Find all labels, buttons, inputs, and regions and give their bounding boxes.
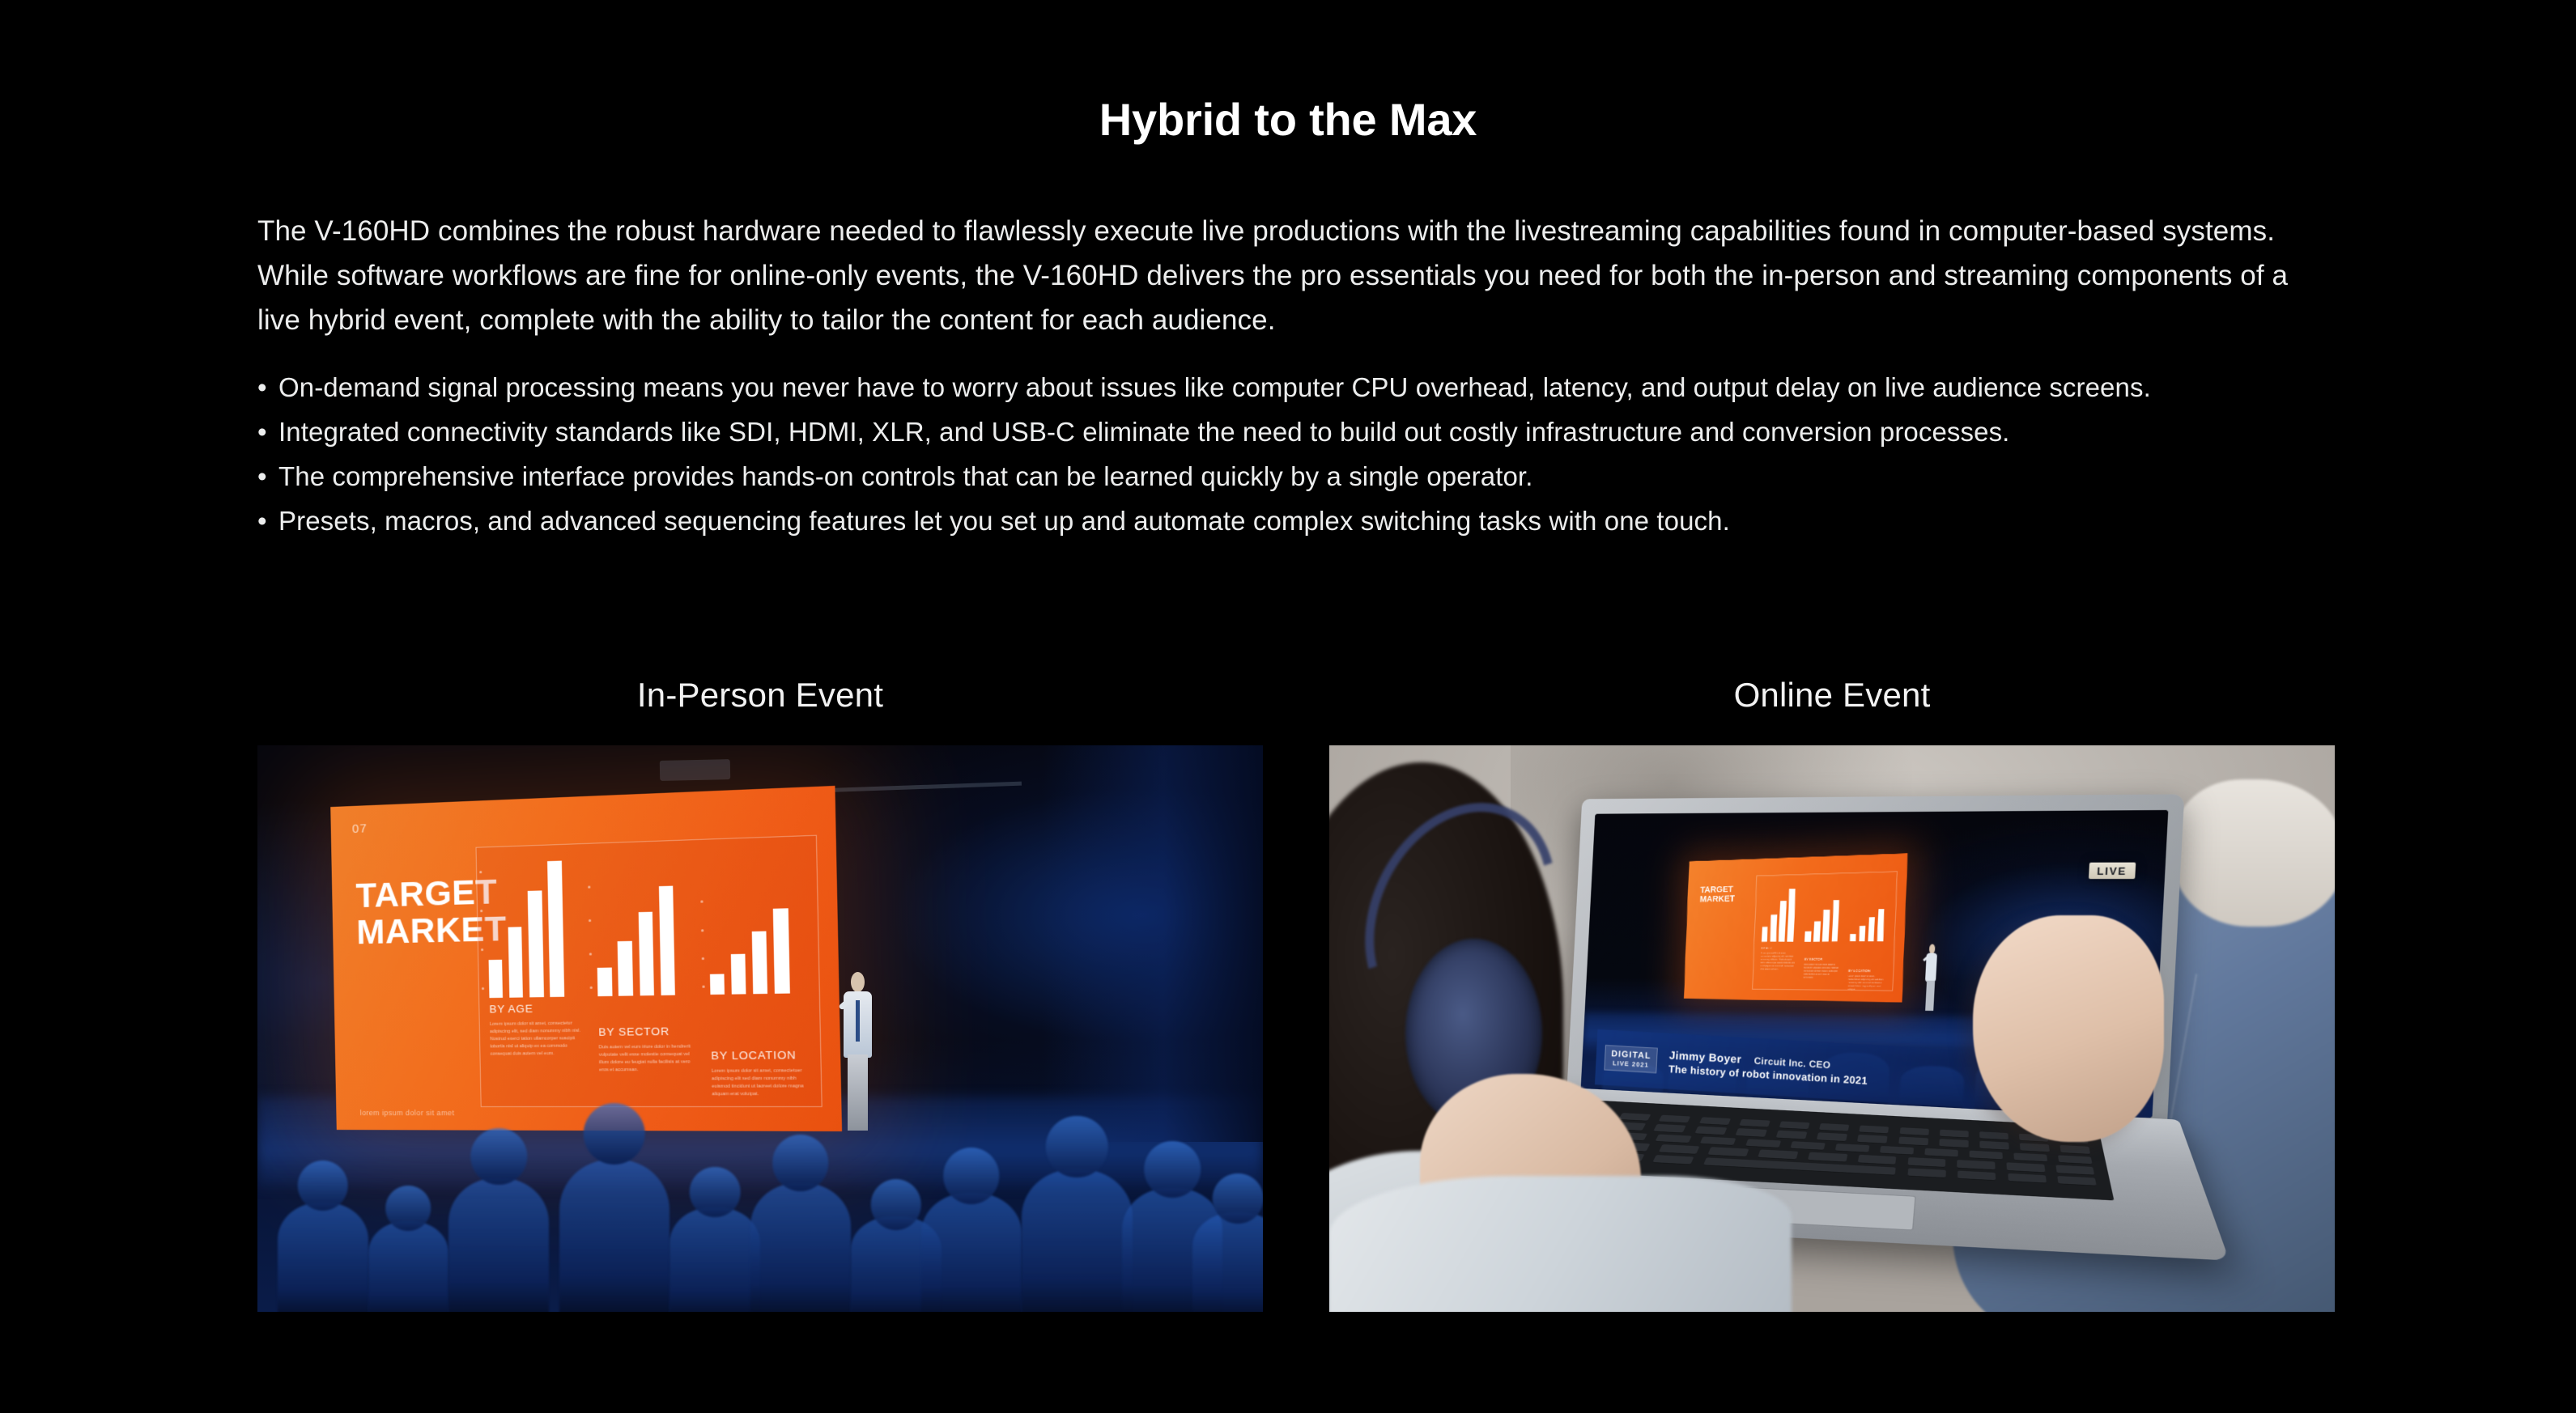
bar-chart-by-location — [708, 891, 809, 994]
stream-bar-chart-by-location — [1850, 903, 1889, 941]
stream-caption-by-location: BY LOCATION Lorem ipsum dolor sit amet, … — [1848, 946, 1887, 987]
bar — [489, 959, 504, 997]
bar — [508, 927, 524, 997]
viewer-sock — [2174, 779, 2335, 927]
presenter-arm — [839, 999, 851, 1010]
list-item-label: Integrated connectivity standards like S… — [278, 417, 2009, 447]
viewer-right-hand — [1973, 915, 2164, 1142]
caption-title: BY AGE — [490, 1001, 583, 1015]
stream-bar-chart-row — [1762, 887, 1889, 942]
bar-chart-by-sector — [596, 875, 694, 995]
bar — [528, 891, 544, 997]
presenter-legs — [1925, 981, 1935, 1011]
live-badge: LIVE — [2088, 863, 2136, 879]
bar — [597, 967, 612, 995]
stream-slide-title: TARGET MARKET — [1700, 885, 1736, 904]
online-event-heading: Online Event — [1329, 676, 2335, 715]
intro-paragraph: The V-160HD combines the robust hardware… — [257, 209, 2330, 342]
presenter-arm — [1923, 956, 1928, 961]
caption-title: BY AGE — [1762, 946, 1796, 950]
audience-silhouettes — [257, 1074, 1263, 1312]
bar — [618, 940, 633, 995]
axis-dots-icon — [479, 871, 484, 989]
event-comparison: In-Person Event 07 TARGET MARKET lorem i… — [257, 676, 2335, 1312]
event-column-online: Online Event TARGET — [1329, 676, 2335, 1312]
caption-body: Duis autem vel eum iriure dolor in hendr… — [1804, 964, 1840, 980]
bullet-dot-icon: • — [257, 499, 267, 543]
in-person-event-heading: In-Person Event — [257, 676, 1263, 715]
audience-member — [1192, 1212, 1263, 1312]
bar — [1813, 921, 1820, 941]
bar — [1804, 931, 1811, 941]
stream-slide-title-line-2: MARKET — [1700, 894, 1736, 905]
presenter-torso — [1925, 953, 1937, 982]
caption-body: Lorem ipsum dolor sit amet, consectetur … — [490, 1020, 584, 1058]
bar-chart-row — [487, 852, 809, 998]
stream-slide-panel: BY AGE Lorem ipsum dolor sit amet, conse… — [1753, 872, 1898, 991]
bar — [1762, 927, 1768, 942]
slide-number: 07 — [352, 821, 368, 836]
bar — [1822, 910, 1830, 941]
bar — [639, 912, 655, 995]
presenter-tie — [856, 1000, 860, 1042]
caption-title: BY LOCATION — [1848, 969, 1885, 973]
audience-member — [670, 1207, 760, 1312]
event-column-in-person: In-Person Event 07 TARGET MARKET lorem i… — [257, 676, 1263, 1312]
bar — [731, 953, 746, 994]
bar — [752, 931, 768, 993]
axis-dots-icon — [589, 885, 593, 989]
axis-dots-icon — [700, 900, 704, 988]
caption-title: BY SECTOR — [1804, 957, 1839, 961]
bar — [1877, 909, 1885, 940]
lower-third-event-badge: DIGITAL LIVE 2021 — [1604, 1045, 1657, 1073]
caption-body: Duis autem vel eum iriure dolor in hendr… — [599, 1043, 695, 1074]
bar — [1770, 914, 1778, 942]
blanket — [1329, 1176, 1792, 1312]
bar — [1868, 918, 1875, 941]
bar — [1850, 934, 1856, 941]
bar-chart-by-age — [487, 859, 582, 997]
slide-chart-panel: BY AGE Lorem ipsum dolor sit amet, conse… — [476, 834, 823, 1107]
list-item: • Integrated connectivity standards like… — [257, 409, 2330, 454]
bullet-dot-icon: • — [257, 454, 267, 499]
audience-member — [368, 1221, 448, 1312]
in-person-event-photo: 07 TARGET MARKET lorem ipsum dolor sit a… — [257, 745, 1263, 1312]
list-item-label: Presets, macros, and advanced sequencing… — [278, 506, 1730, 536]
audience-member — [278, 1203, 368, 1312]
caption-title: BY SECTOR — [599, 1025, 695, 1038]
bar — [1831, 900, 1839, 941]
stream-slide-title-line-1: TARGET — [1700, 885, 1736, 895]
audience-member — [1022, 1169, 1133, 1312]
list-item: • Presets, macros, and advanced sequenci… — [257, 499, 2330, 543]
list-item-label: On-demand signal processing means you ne… — [278, 372, 2151, 402]
feature-bullet-list: • On-demand signal processing means you … — [257, 365, 2330, 543]
audience-member — [448, 1178, 549, 1312]
caption-title: BY LOCATION — [712, 1049, 810, 1063]
ceiling-light-rig — [660, 759, 730, 781]
audience-member — [921, 1193, 1022, 1312]
list-item-label: The comprehensive interface provides han… — [278, 461, 1532, 491]
bar — [548, 860, 565, 996]
bar — [1787, 889, 1796, 942]
caption-body: Lorem ipsum dolor sit amet, consectetuer… — [1847, 975, 1885, 992]
audience-member — [750, 1183, 851, 1312]
bar — [773, 908, 790, 993]
stream-bar-chart-by-age — [1762, 889, 1798, 941]
online-event-photo: TARGET MARKET — [1329, 745, 2335, 1312]
stream-presenter — [1921, 944, 1940, 1011]
bullet-dot-icon: • — [257, 409, 267, 454]
list-item: • The comprehensive interface provides h… — [257, 454, 2330, 499]
caption-body: Lorem ipsum dolor sit amet, consectetur … — [1761, 953, 1796, 972]
bullet-dot-icon: • — [257, 365, 267, 409]
bar — [1859, 926, 1865, 941]
presenter-head — [851, 972, 865, 992]
lower-third-badge-line-2: LIVE 2021 — [1610, 1059, 1651, 1069]
page-title: Hybrid to the Max — [0, 93, 2576, 146]
audience-member — [559, 1160, 670, 1312]
stream-caption-by-sector: BY SECTOR Duis autem vel eum iriure dolo… — [1803, 946, 1840, 986]
bar — [710, 974, 725, 994]
stream-caption-by-age: BY AGE Lorem ipsum dolor sit amet, conse… — [1760, 946, 1796, 985]
stream-caption-row: BY AGE Lorem ipsum dolor sit amet, conse… — [1760, 946, 1886, 987]
bar — [659, 885, 676, 995]
list-item: • On-demand signal processing means you … — [257, 365, 2330, 409]
page-root: Hybrid to the Max The V-160HD combines t… — [0, 0, 2576, 1413]
stream-presentation-slide: TARGET MARKET — [1684, 853, 1907, 1002]
copy-block: The V-160HD combines the robust hardware… — [257, 209, 2330, 543]
stream-bar-chart-by-sector — [1804, 897, 1842, 942]
bar — [1779, 901, 1786, 941]
